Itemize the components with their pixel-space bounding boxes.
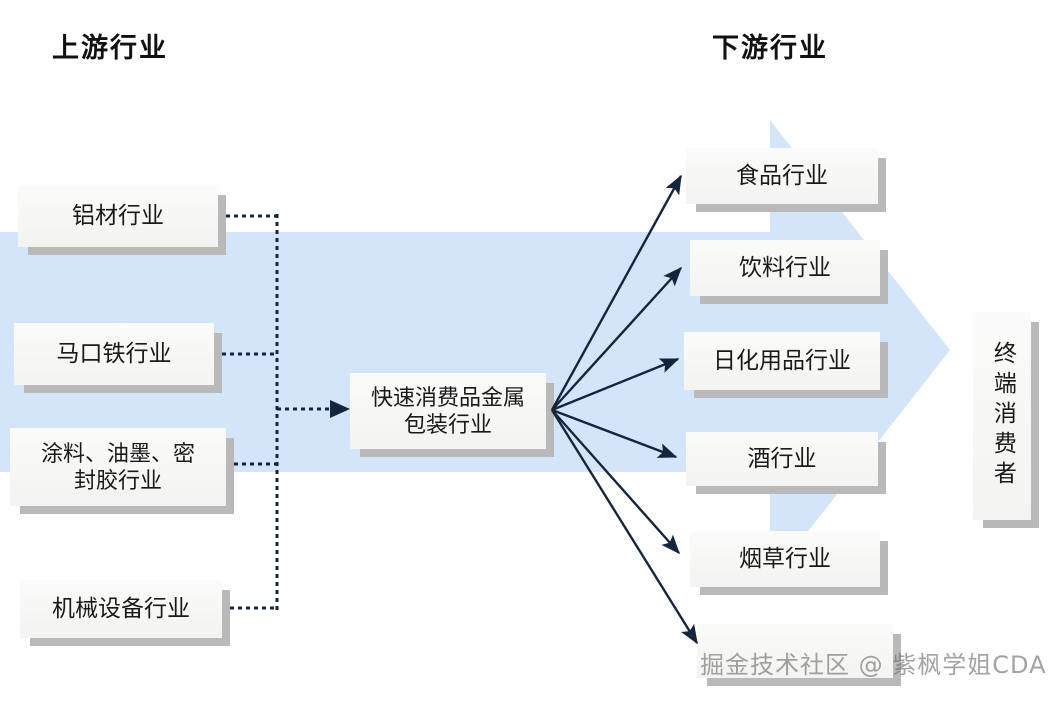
arrow-to-daily — [552, 359, 678, 410]
diagram-canvas: 上游行业 下游行业 铝材行业 马口铁行业 涂料、油墨、密 封胶行业 机械设备行业… — [0, 0, 1063, 701]
arrow-to-other — [552, 410, 697, 643]
arrow-to-tobacco — [552, 410, 679, 553]
arrow-to-food — [552, 176, 681, 410]
downstream-fanout-arrows — [0, 0, 1063, 701]
arrow-to-beverage — [552, 268, 681, 410]
watermark-text: 掘金技术社区 @ 紫枫学姐CDA — [700, 645, 1047, 680]
arrow-to-liquor — [552, 410, 676, 457]
